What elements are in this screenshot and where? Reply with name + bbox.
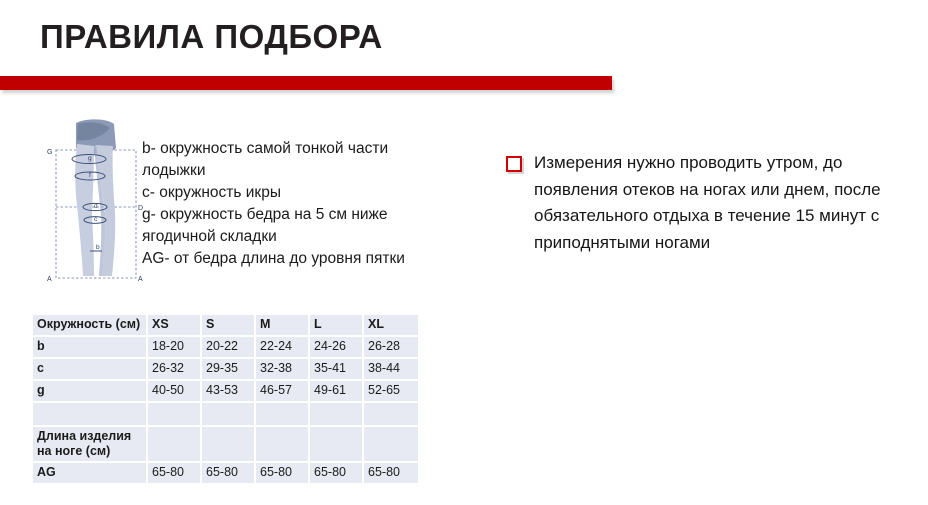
cell-xl: 52-65 (364, 381, 418, 403)
leg-measurement-diagram: g f d c b G D A A (44, 118, 148, 290)
table-row: c 26-32 29-35 32-38 35-41 38-44 (33, 359, 418, 381)
cell-xs: 18-20 (148, 337, 202, 359)
cell-xl: 38-44 (364, 359, 418, 381)
cell-l: 24-26 (310, 337, 364, 359)
cell-s (202, 427, 256, 463)
cell-xl: 65-80 (364, 463, 418, 483)
table-header-xs: XS (148, 315, 202, 337)
row-label: c (33, 359, 148, 381)
table-header-measure: Окружность (см) (33, 315, 148, 337)
svg-text:b: b (96, 244, 100, 251)
cell-m: 46-57 (256, 381, 310, 403)
svg-text:f: f (89, 172, 91, 179)
cell-xl (364, 403, 418, 427)
table-header-row: Окружность (см) XS S M L XL (33, 315, 418, 337)
table-row: AG 65-80 65-80 65-80 65-80 65-80 (33, 463, 418, 483)
row-label: b (33, 337, 148, 359)
cell-s: 65-80 (202, 463, 256, 483)
cell-s: 43-53 (202, 381, 256, 403)
cell-s: 29-35 (202, 359, 256, 381)
title-divider-bar (0, 76, 612, 90)
table-section-row: Длина изделия на ноге (см) (33, 427, 418, 463)
cell-xs (148, 427, 202, 463)
cell-l (310, 427, 364, 463)
legend-line-g: g- окружность бедра на 5 см ниже ягодичн… (142, 204, 442, 248)
cell-m: 22-24 (256, 337, 310, 359)
table-spacer-row (33, 403, 418, 427)
measurement-legend: b- окружность самой тонкой части лодыжки… (142, 138, 442, 270)
table-header-xl: XL (364, 315, 418, 337)
cell-l (310, 403, 364, 427)
advice-bullet-text: Измерения нужно проводить утром, до появ… (534, 150, 901, 256)
row-label: g (33, 381, 148, 403)
legend-line-c: c- окружность икры (142, 182, 442, 204)
legend-line-ag: AG- от бедра длина до уровня пятки (142, 248, 442, 270)
cell-m (256, 403, 310, 427)
cell-m: 32-38 (256, 359, 310, 381)
row-label (33, 403, 148, 427)
svg-text:d: d (94, 203, 98, 210)
table-header-l: L (310, 315, 364, 337)
cell-xs: 26-32 (148, 359, 202, 381)
row-label: Длина изделия на ноге (см) (33, 427, 148, 463)
cell-xl: 26-28 (364, 337, 418, 359)
slide-canvas: ПРАВИЛА ПОДБОРА (0, 0, 928, 505)
row-label: AG (33, 463, 148, 483)
cell-xs (148, 403, 202, 427)
svg-text:g: g (88, 155, 92, 162)
table-header-s: S (202, 315, 256, 337)
table-row: g 40-50 43-53 46-57 49-61 52-65 (33, 381, 418, 403)
table-row: b 18-20 20-22 22-24 24-26 26-28 (33, 337, 418, 359)
red-square-bullet-icon (506, 156, 522, 172)
table-header-m: M (256, 315, 310, 337)
cell-xs: 65-80 (148, 463, 202, 483)
cell-m (256, 427, 310, 463)
cell-xl (364, 427, 418, 463)
svg-text:A: A (138, 276, 143, 283)
cell-l: 35-41 (310, 359, 364, 381)
legend-line-b: b- окружность самой тонкой части лодыжки (142, 138, 442, 182)
size-chart-table: Окружность (см) XS S M L XL b 18-20 20-2… (33, 315, 418, 483)
cell-xs: 40-50 (148, 381, 202, 403)
cell-s: 20-22 (202, 337, 256, 359)
cell-l: 65-80 (310, 463, 364, 483)
cell-m: 65-80 (256, 463, 310, 483)
page-title: ПРАВИЛА ПОДБОРА (40, 18, 383, 56)
svg-text:G: G (47, 149, 52, 156)
svg-text:A: A (47, 276, 52, 283)
cell-s (202, 403, 256, 427)
advice-bullet: Измерения нужно проводить утром, до появ… (506, 150, 901, 256)
cell-l: 49-61 (310, 381, 364, 403)
